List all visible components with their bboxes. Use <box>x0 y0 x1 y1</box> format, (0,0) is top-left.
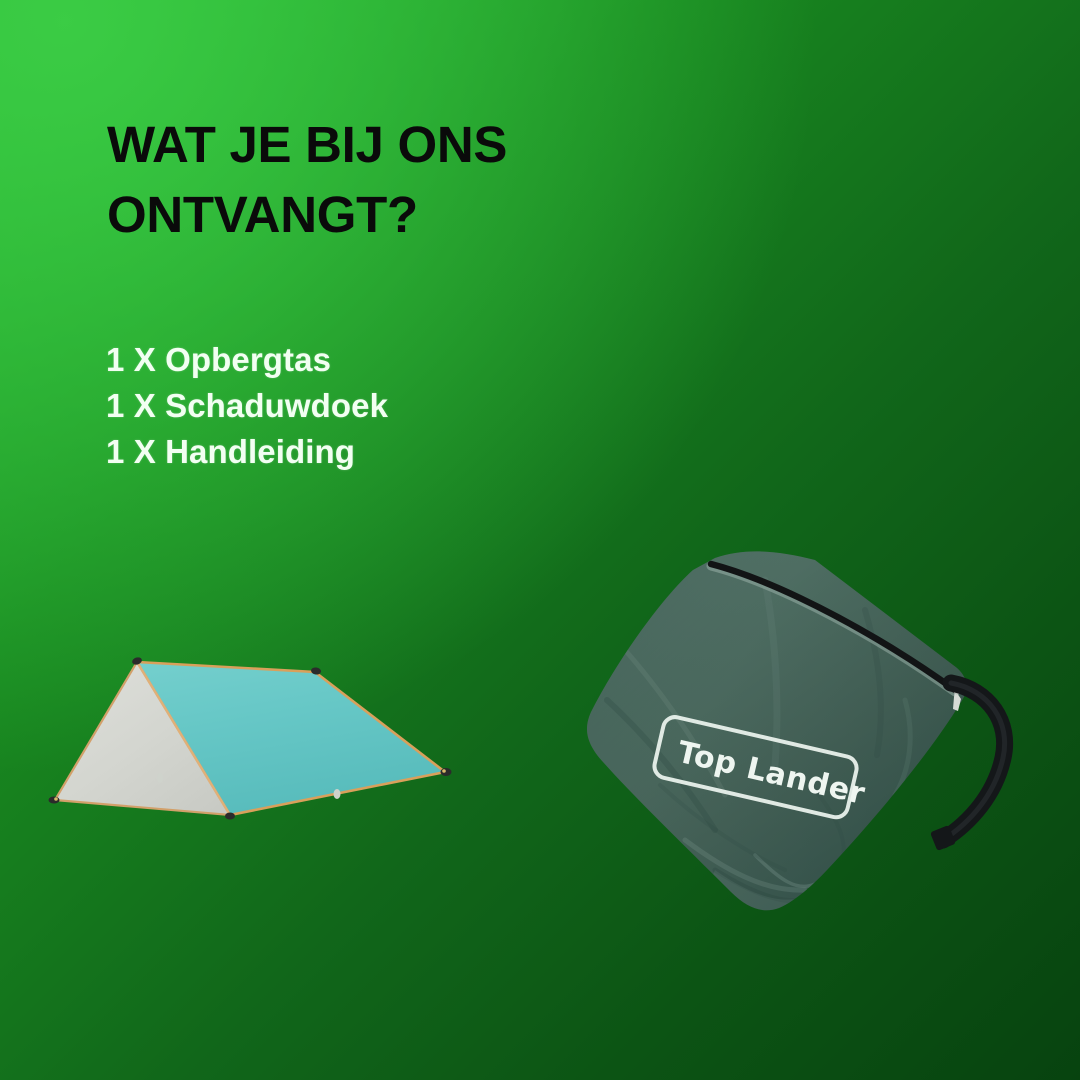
included-items-list: 1 X Opbergtas 1 X Schaduwdoek 1 X Handle… <box>106 337 388 475</box>
tarp-product-image <box>30 630 490 860</box>
list-item: 1 X Schaduwdoek <box>106 383 388 429</box>
storage-bag-product-image: Top Lander <box>565 540 1035 960</box>
page-title-line-2: ONTVANGT? <box>107 180 747 250</box>
page-title-line-1: WAT JE BIJ ONS <box>107 110 747 180</box>
poster-canvas: WAT JE BIJ ONS ONTVANGT? 1 X Opbergtas 1… <box>0 0 1080 1080</box>
list-item: 1 X Opbergtas <box>106 337 388 383</box>
list-item: 1 X Handleiding <box>106 429 388 475</box>
page-title: WAT JE BIJ ONS ONTVANGT? <box>107 110 747 250</box>
